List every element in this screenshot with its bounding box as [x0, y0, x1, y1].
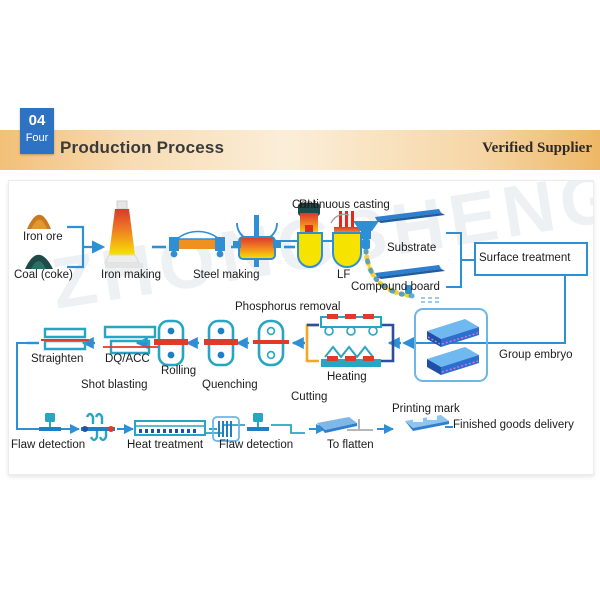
label-heating: Heating: [327, 371, 367, 383]
furnace-icon: [321, 347, 381, 367]
ladle-furnace-icon: [331, 211, 361, 267]
label-flaw-detection-1: Flaw detection: [11, 439, 85, 451]
ut-probe-icon-1: [39, 413, 61, 431]
straightener-icon: [41, 329, 89, 349]
label-finished-goods: Finished goods delivery: [453, 419, 574, 431]
roller-table-icon: [321, 314, 381, 335]
compound-board-plate-icon: [375, 265, 445, 279]
label-lf: LF: [337, 269, 350, 281]
rh-degasser-icon: [298, 203, 322, 267]
label-group-embryo: Group embryo: [499, 349, 573, 361]
label-compound-board: Compound board: [351, 281, 440, 293]
descaler-icon: [253, 321, 289, 365]
flow-diagram: Iron ore Coal (coke) Iron making Steel m…: [9, 181, 593, 474]
page-title: Production Process: [60, 138, 224, 158]
roller-hearth-icon: [135, 421, 205, 435]
package-icon: [405, 415, 449, 431]
label-quenching: Quenching: [202, 379, 258, 391]
coal-pile-icon: [25, 255, 53, 269]
converter-icon: [233, 215, 281, 267]
page-root: 04 Four Production Process Verified Supp…: [0, 0, 600, 600]
label-phosphorus-removal: Phosphorus removal: [235, 301, 340, 313]
badge-number: 04: [20, 108, 54, 131]
process-diagram-card: ZHONGSHENG: [8, 180, 594, 475]
label-cutting: Cutting: [291, 391, 327, 403]
substrate-plate-icon: [375, 209, 445, 223]
label-flaw-detection-2: Flaw detection: [219, 439, 293, 451]
label-dq-acc: DQ/ACC: [105, 353, 150, 365]
label-continuous-casting: Continuous casting: [292, 199, 390, 211]
label-straighten: Straighten: [31, 353, 83, 365]
slab-stack-icon: [415, 309, 487, 381]
badge-word: Four: [20, 131, 54, 145]
cooling-icon: [103, 327, 159, 353]
label-heat-treatment: Heat treatment: [127, 439, 203, 451]
label-rolling: Rolling: [161, 365, 196, 377]
label-steel-making: Steel making: [193, 269, 259, 281]
ut-probe-icon-2: [247, 413, 269, 431]
blast-furnace-icon: [105, 201, 143, 268]
torpedo-car-icon: [169, 232, 225, 258]
label-coal-coke: Coal (coke): [14, 269, 73, 281]
label-surface-treatment: Surface treatment: [479, 252, 570, 264]
label-iron-making: Iron making: [101, 269, 161, 281]
label-iron-ore: Iron ore: [23, 231, 63, 243]
ore-pile-icon: [27, 215, 51, 229]
verified-supplier-label: Verified Supplier: [482, 140, 592, 157]
label-substrate: Substrate: [387, 242, 436, 254]
label-to-flatten: To flatten: [327, 439, 374, 451]
section-number-badge: 04 Four: [20, 108, 54, 154]
label-printing-mark: Printing mark: [392, 403, 460, 415]
label-shot-blasting: Shot blasting: [81, 379, 148, 391]
shot-blast-marks-icon: [81, 414, 115, 440]
